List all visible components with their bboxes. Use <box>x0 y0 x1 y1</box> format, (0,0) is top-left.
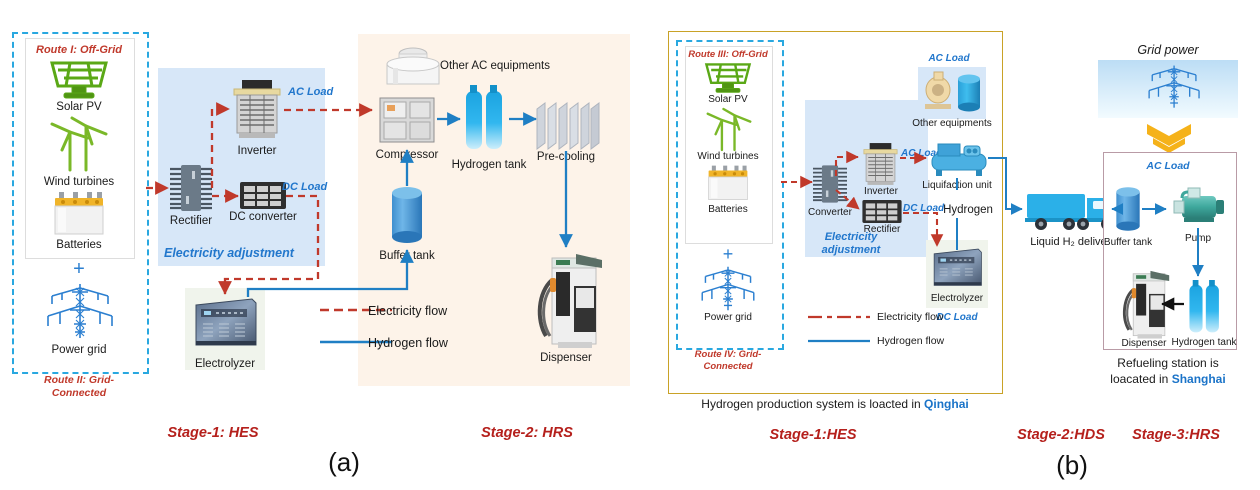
pre-cooling-icon <box>537 99 599 149</box>
rectifier-icon <box>170 163 212 213</box>
panel-b-batteries-label: Batteries <box>708 204 747 216</box>
batteries-icon <box>53 192 105 235</box>
panel-b-other-equipments-label: Other equipments <box>912 118 992 130</box>
inverter-icon <box>230 80 284 138</box>
panel-b-refueling-caption-1: Refueling station is <box>1117 357 1218 371</box>
panel-b-refueling-caption-2-prefix: loacated in <box>1110 372 1171 386</box>
electrolyzer-icon <box>192 297 258 349</box>
inverter-icon <box>861 143 900 185</box>
storage-cylinder-icon <box>956 74 982 112</box>
panel-a-inverter-label: Inverter <box>238 145 277 158</box>
panel-b-refueling-caption-2: loacated in Shanghai <box>1110 373 1225 387</box>
panel-a: Route I: Off-Grid Solar PV Wind turbines… <box>0 0 650 490</box>
panel-b-route-top-label: Route III: Off-Grid <box>688 50 768 61</box>
panel-a-dc-converter-label: DC converter <box>229 211 297 224</box>
panel-b-stage-2-label: Stage-2:HDS <box>1017 427 1105 443</box>
solar-pv-icon <box>44 59 114 101</box>
panel-a-route-bottom-label-2: Connected <box>52 387 106 399</box>
panel-a-other-ac-equipments-label: Other AC equipments <box>440 60 550 73</box>
grid-power-down-chevron-icon <box>1145 122 1193 154</box>
panel-b-refueling-city: Shanghai <box>1172 372 1226 386</box>
panel-b-stage-1-label: Stage-1:HES <box>769 427 856 443</box>
panel-b-ac-load-top-label: AC Load <box>928 53 969 65</box>
dc-converter-icon <box>240 182 286 209</box>
panel-a-letter: (a) <box>328 447 360 478</box>
panel-b-route-bottom-label-1: Route IV: Grid- <box>695 350 762 361</box>
panel-b-solar-label: Solar PV <box>708 94 747 106</box>
hydrogen-tank-icon <box>462 85 508 151</box>
panel-b-refueling-ac-load-label: AC Load <box>1146 160 1189 172</box>
dispenser-icon <box>1117 268 1171 340</box>
dispenser-icon <box>530 250 604 350</box>
buffer-tank-icon <box>1114 185 1142 233</box>
panel-b-hydrogen-label: Hydrogen <box>943 204 993 217</box>
panel-b-production-city: Qinghai <box>924 397 969 411</box>
grid-power-panel <box>1098 60 1238 118</box>
panel-a-compressor-label: Compressor <box>376 149 439 162</box>
panel-a-batteries-label: Batteries <box>56 239 101 252</box>
panel-a-stage-2-label: Stage-2: HRS <box>481 425 573 441</box>
panel-a-wind-label: Wind turbines <box>44 176 114 189</box>
panel-a-route-top-label: Route I: Off-Grid <box>36 44 122 57</box>
panel-b-legend-hydrogen-label: Hydrogen flow <box>877 335 944 347</box>
panel-a-electrolyzer-label: Electrolyzer <box>195 358 255 371</box>
panel-b-grid-power-title: Grid power <box>1137 43 1198 57</box>
other-ac-equipments-icon <box>385 44 441 86</box>
panel-b-letter: (b) <box>1056 450 1088 481</box>
panel-a-buffer-tank-label: Buffer tank <box>379 250 434 263</box>
panel-b-legend-electricity-label: Electricity flow <box>877 311 944 323</box>
panel-b-wind-label: Wind turbines <box>697 151 758 163</box>
compressor-icon <box>378 96 436 144</box>
liquifaction-unit-icon <box>928 140 990 178</box>
panel-b-converter-label: Converter <box>808 207 852 219</box>
panel-a-electricity-adjustment-title: Electricity adjustment <box>164 246 294 260</box>
panel-b-liquifaction-unit-label: Liquifaction unit <box>922 180 992 192</box>
panel-a-rectifier-label: Rectifier <box>170 215 212 228</box>
power-grid-icon <box>44 282 116 340</box>
panel-a-ac-load-label: AC Load <box>288 86 333 99</box>
panel-a-grid-label: Power grid <box>52 344 107 357</box>
converter-icon <box>813 163 847 205</box>
panel-b: Route III: Off-Grid Solar PV Wind turbin… <box>650 0 1260 490</box>
panel-b-production-caption-prefix: Hydrogen production system is loacted in <box>701 397 924 411</box>
rectifier-icon <box>862 200 902 223</box>
buffer-tank-icon <box>389 186 425 244</box>
panel-b-stage-3-label: Stage-3:HRS <box>1132 427 1220 443</box>
panel-b-dispenser-label: Dispenser <box>1121 338 1166 350</box>
other-equipments-icon <box>923 70 953 112</box>
panel-a-stage-1-label: Stage-1: HES <box>167 425 258 441</box>
panel-a-route-bottom-label-1: Route II: Grid- <box>44 374 114 386</box>
panel-a-legend-electricity-label: Electricity flow <box>368 304 447 318</box>
panel-b-buffer-tank-label: Buffer tank <box>1104 237 1152 249</box>
power-grid-icon <box>699 265 757 312</box>
panel-a-plus-sign: + <box>73 258 85 281</box>
panel-b-dc-load-inner-label: DC Load <box>903 203 944 215</box>
panel-b-electrolyzer-label: Electrolyzer <box>931 293 983 305</box>
panel-a-dispenser-label: Dispenser <box>540 352 592 365</box>
panel-a-dc-load-label: DC Load <box>282 181 327 194</box>
pump-icon <box>1170 186 1226 228</box>
wind-turbines-icon <box>46 116 112 172</box>
electrolyzer-icon <box>931 247 983 289</box>
panel-a-legend-hydrogen-label: Hydrogen flow <box>368 336 448 350</box>
panel-a-hydrogen-tank-label: Hydrogen tank <box>452 159 527 172</box>
hydrogen-tank-icon <box>1186 280 1224 334</box>
panel-b-legend-hydrogen-line <box>808 337 870 345</box>
batteries-icon <box>707 165 749 201</box>
panel-b-electricity-adjustment-title-2: adjustment <box>822 244 881 257</box>
panel-a-solar-label: Solar PV <box>56 101 101 114</box>
panel-b-pump-label: Pump <box>1185 233 1211 245</box>
wind-turbines-icon <box>703 107 755 152</box>
panel-a-pre-cooling-label: Pre-cooling <box>537 151 595 164</box>
panel-b-legend-electricity-line <box>808 313 870 321</box>
panel-b-inverter-label: Inverter <box>864 186 898 198</box>
panel-b-grid-label: Power grid <box>704 312 752 324</box>
panel-b-route-bottom-label-2: Connected <box>703 362 752 373</box>
solar-pv-icon <box>700 61 756 95</box>
panel-b-hydrogen-tank-label: Hydrogen tank <box>1171 337 1236 349</box>
panel-b-plus-sign: + <box>723 244 734 265</box>
panel-b-production-caption: Hydrogen production system is loacted in… <box>701 398 968 412</box>
panel-b-electricity-adjustment-title-1: Electricity <box>825 231 878 244</box>
